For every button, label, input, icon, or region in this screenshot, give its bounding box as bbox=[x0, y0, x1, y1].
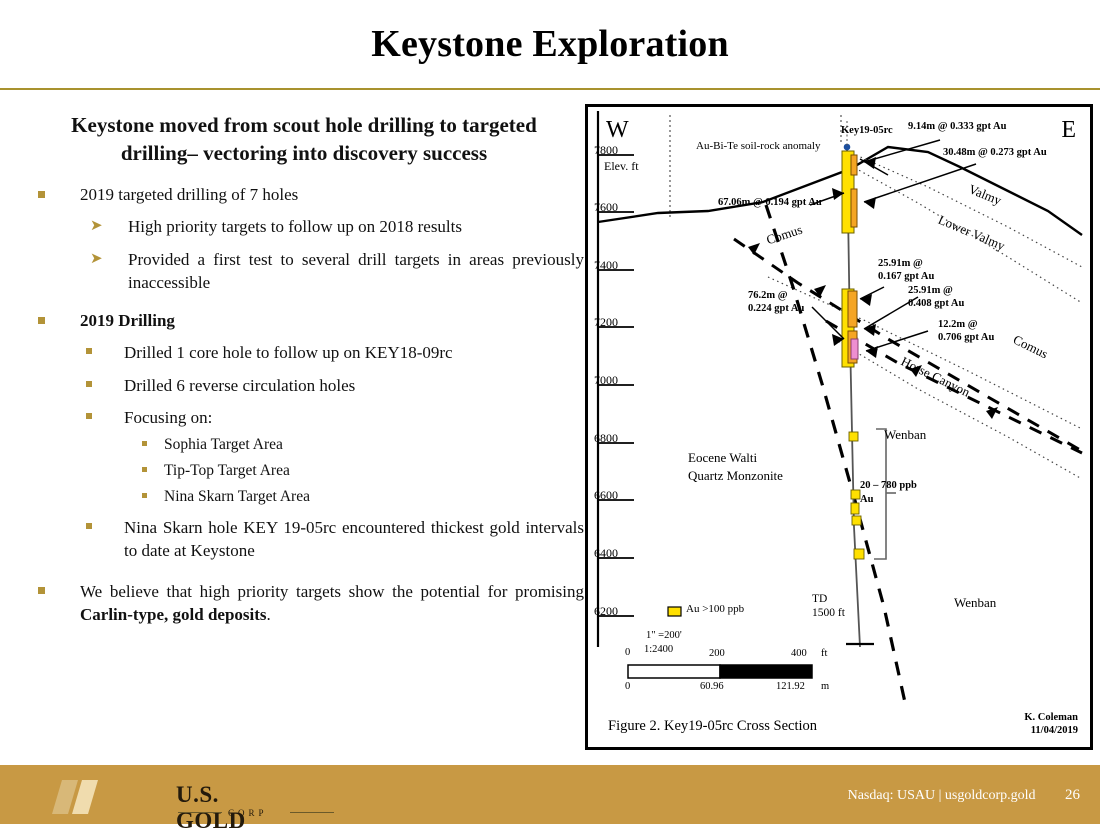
assay-line-1: 12.2m @ bbox=[938, 318, 994, 331]
list-item-label: High priority targets to follow up on 20… bbox=[128, 217, 462, 236]
interval-assay-12m-706 bbox=[851, 339, 858, 359]
closing-text-plain: We believe that high priority targets sh… bbox=[80, 582, 584, 601]
ppb-line-2: Au bbox=[860, 493, 917, 507]
ppb-range-label: 20 – 780 ppb Au bbox=[860, 479, 917, 506]
ticker-text: Nasdaq: USAU | usgoldcorp.gold bbox=[848, 788, 1036, 803]
list-item: Drilled 1 core hole to follow up on KEY1… bbox=[24, 341, 584, 364]
list-item-label: Nina Skarn Target Area bbox=[164, 488, 310, 505]
elevation-label-7800: 7800 bbox=[594, 143, 618, 158]
list-item-closing: We believe that high priority targets sh… bbox=[24, 580, 584, 626]
assay-line-2: 0.167 gpt Au bbox=[878, 270, 934, 283]
intrusive-line-2: Quartz Monzonite bbox=[688, 467, 783, 485]
credit-author: K. Coleman bbox=[1024, 711, 1078, 724]
list-item: Nina Skarn hole KEY 19-05rc encountered … bbox=[24, 516, 584, 562]
assay-arrowheads bbox=[832, 157, 878, 358]
list-item: 2019 targeted drilling of 7 holes bbox=[24, 184, 584, 207]
td-label: TD 1500 ft bbox=[812, 592, 845, 621]
square-bullet-icon bbox=[86, 381, 92, 387]
cross-section-figure: W E 7800 Elev. ft 7600 7400 7200 7000 68… bbox=[585, 104, 1093, 750]
ppb-line-1: 20 – 780 ppb bbox=[860, 479, 917, 493]
interval-assay-25m-167 bbox=[848, 291, 857, 327]
logo-mark-icon bbox=[48, 774, 128, 818]
list-item: ➤ Provided a first test to several drill… bbox=[24, 248, 584, 294]
square-bullet-icon bbox=[86, 413, 92, 419]
square-bullet-icon bbox=[38, 191, 45, 198]
list-item-label: Focusing on: bbox=[124, 408, 212, 427]
assay-callout-76m: 76.2m @ 0.224 gpt Au bbox=[748, 289, 804, 315]
scale-ft-mid: 200 bbox=[709, 648, 725, 659]
list-item: Nina Skarn Target Area bbox=[24, 487, 584, 507]
logo-subtext: CORP bbox=[228, 808, 268, 818]
elevation-axis-title: Elev. ft bbox=[604, 159, 639, 174]
scale-m-mid: 60.96 bbox=[700, 681, 724, 692]
square-bullet-icon bbox=[86, 348, 92, 354]
scale-bar-light bbox=[628, 665, 720, 678]
figure-credit: K. Coleman 11/04/2019 bbox=[1024, 711, 1078, 737]
soil-anomaly-label: Au-Bi-Te soil-rock anomaly bbox=[696, 140, 820, 152]
scale-ratio-line-2: 1:2400 bbox=[644, 644, 673, 655]
interval-assay-9m bbox=[851, 155, 857, 175]
square-bullet-icon bbox=[142, 441, 147, 446]
title-divider bbox=[0, 88, 1100, 90]
geology-label-wenban-upper: Wenban bbox=[884, 427, 926, 443]
list-item-label: Drilled 6 reverse circulation holes bbox=[124, 376, 355, 395]
assay-callout-67m: 67.06m @ 0.194 gpt Au bbox=[718, 197, 822, 208]
td-line-2: 1500 ft bbox=[812, 606, 845, 620]
lede-heading: Keystone moved from scout hole drilling … bbox=[24, 112, 584, 168]
list-item-label: Drilled 1 core hole to follow up on KEY1… bbox=[124, 343, 453, 362]
assay-callout-25m-408: 25.91m @ 0.408 gpt Au bbox=[908, 284, 964, 310]
intrusive-line-1: Eocene Walti bbox=[688, 449, 783, 467]
list-item: Sophia Target Area bbox=[24, 435, 584, 455]
company-logo: U.S. GOLD CORP bbox=[48, 774, 288, 818]
square-bullet-icon bbox=[86, 523, 92, 529]
square-bullet-icon bbox=[38, 317, 45, 324]
assay-line-1: 76.2m @ bbox=[748, 289, 804, 302]
square-bullet-icon bbox=[38, 587, 45, 594]
assay-callout-25m-167: 25.91m @ 0.167 gpt Au bbox=[878, 257, 934, 283]
list-item: Focusing on: bbox=[24, 406, 584, 429]
assay-callout-30m: 30.48m @ 0.273 gpt Au bbox=[943, 147, 1047, 158]
assay-line-2: 0.224 gpt Au bbox=[748, 302, 804, 315]
list-item-label: Provided a first test to several drill t… bbox=[128, 250, 584, 292]
credit-date: 11/04/2019 bbox=[1024, 724, 1078, 737]
square-bullet-icon bbox=[142, 467, 147, 472]
direction-west-label: W bbox=[606, 117, 629, 144]
figure-caption: Figure 2. Key19-05rc Cross Section bbox=[608, 718, 817, 735]
logo-rule-left bbox=[178, 812, 222, 813]
list-item: Drilled 6 reverse circulation holes bbox=[24, 374, 584, 397]
list-item: ➤ High priority targets to follow up on … bbox=[24, 215, 584, 238]
interval-assay-30m bbox=[851, 189, 857, 227]
list-item-label: 2019 Drilling bbox=[80, 311, 175, 330]
bullet-list: 2019 targeted drilling of 7 holes ➤ High… bbox=[24, 184, 584, 627]
direction-east-label: E bbox=[1061, 117, 1076, 144]
arrow-bullet-icon: ➤ bbox=[90, 249, 103, 269]
scale-ft-0: 0 bbox=[625, 647, 630, 658]
list-item-label: 2019 targeted drilling of 7 holes bbox=[80, 185, 298, 204]
content-column: Keystone moved from scout hole drilling … bbox=[24, 112, 584, 627]
td-line-1: TD bbox=[812, 592, 845, 606]
page-number: 26 bbox=[1065, 787, 1080, 804]
assay-line-2: 0.408 gpt Au bbox=[908, 297, 964, 310]
elevation-label-6200: 6200 bbox=[594, 604, 618, 619]
arrow-bullet-icon: ➤ bbox=[90, 216, 103, 236]
legend-swatch-icon bbox=[668, 607, 681, 616]
closing-text-bold: Carlin-type, gold deposits bbox=[80, 605, 267, 624]
elevation-label-7000: 7000 bbox=[594, 373, 618, 388]
intrusive-label: Eocene Walti Quartz Monzonite bbox=[688, 449, 783, 484]
list-item-label: Tip-Top Target Area bbox=[164, 462, 290, 479]
footer-bar: U.S. GOLD CORP Nasdaq: USAU | usgoldcorp… bbox=[0, 765, 1100, 824]
elevation-label-7400: 7400 bbox=[594, 258, 618, 273]
legend-label: Au >100 ppb bbox=[686, 603, 744, 615]
list-item: Tip-Top Target Area bbox=[24, 461, 584, 481]
scale-m-max: 121.92 bbox=[776, 681, 805, 692]
scale-ft-max: 400 bbox=[791, 648, 807, 659]
footer-info: Nasdaq: USAU | usgoldcorp.gold 26 bbox=[848, 787, 1080, 804]
list-item-label: Nina Skarn hole KEY 19-05rc encountered … bbox=[124, 518, 584, 560]
closing-text-period: . bbox=[267, 605, 271, 624]
scale-m-0: 0 bbox=[625, 681, 630, 692]
assay-callout-12m-706: 12.2m @ 0.706 gpt Au bbox=[938, 318, 994, 344]
drill-hole-label: Key19-05rc bbox=[841, 125, 893, 136]
scale-ft-unit: ft bbox=[821, 648, 827, 659]
elevation-label-7200: 7200 bbox=[594, 315, 618, 330]
assay-line-1: 25.91m @ bbox=[908, 284, 964, 297]
scale-m-unit: m bbox=[821, 681, 829, 692]
page-title: Keystone Exploration bbox=[0, 22, 1100, 66]
list-item-label: Sophia Target Area bbox=[164, 436, 283, 453]
elevation-label-6800: 6800 bbox=[594, 431, 618, 446]
scale-ratio-line-1: 1" =200' bbox=[646, 630, 682, 641]
assay-line-1: 25.91m @ bbox=[878, 257, 934, 270]
logo-rule-right bbox=[290, 812, 334, 813]
geology-label-wenban-lower: Wenban bbox=[954, 595, 996, 611]
contact-horse-canyon bbox=[834, 339, 1082, 479]
scale-bar-dark bbox=[720, 665, 812, 678]
assay-callout-9m: 9.14m @ 0.333 gpt Au bbox=[908, 121, 1006, 132]
list-item: 2019 Drilling bbox=[24, 310, 584, 333]
elevation-label-6600: 6600 bbox=[594, 488, 618, 503]
elevation-label-7600: 7600 bbox=[594, 200, 618, 215]
elevation-label-6400: 6400 bbox=[594, 546, 618, 561]
assay-line-2: 0.706 gpt Au bbox=[938, 331, 994, 344]
square-bullet-icon bbox=[142, 493, 147, 498]
